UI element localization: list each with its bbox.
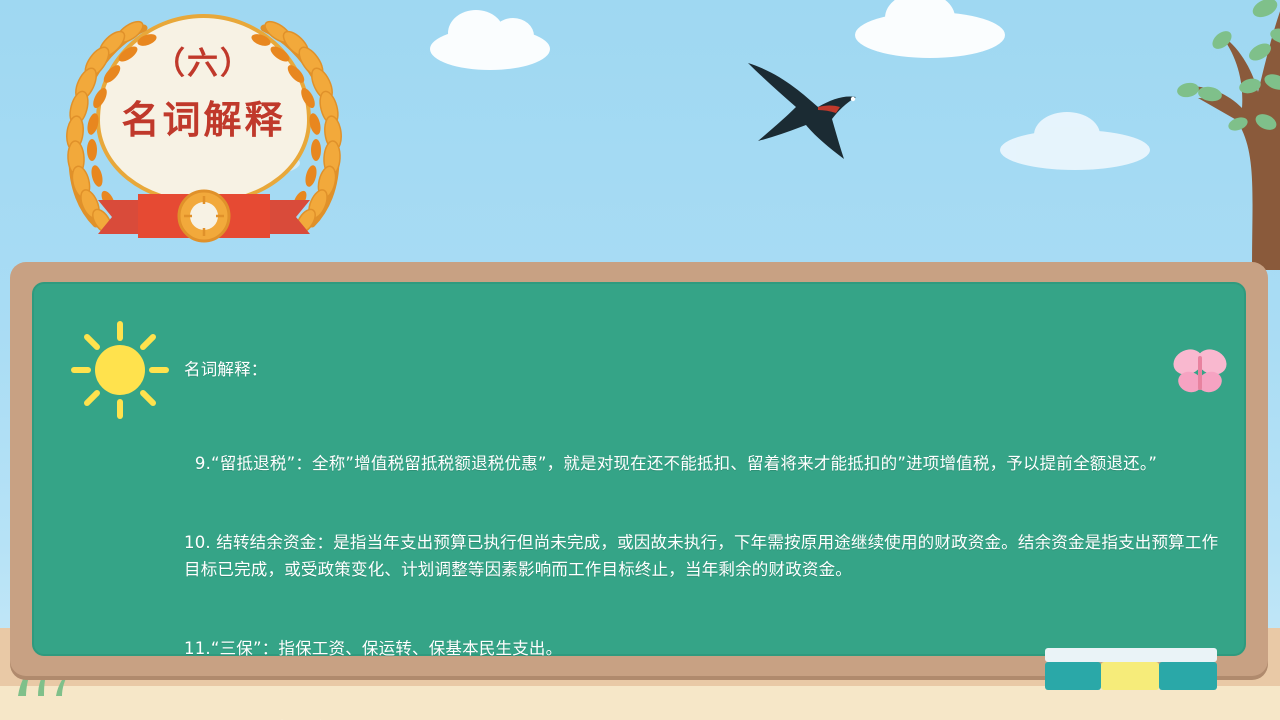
- tree-icon: [1060, 0, 1280, 270]
- slide-canvas: （六） 名词解释: [0, 0, 1280, 720]
- board-paragraph-9: 9.“留抵退税”：全称”增值税留抵税额退税优惠”，就是对现在还不能抵扣、留着将来…: [184, 451, 1226, 478]
- section-badge: （六） 名词解释: [38, 8, 368, 258]
- cloud-icon: [430, 28, 550, 70]
- section-number: （六）: [96, 38, 311, 83]
- swallow-icon: [740, 55, 880, 165]
- sun-icon: [70, 320, 170, 420]
- board-heading: 名词解释：: [184, 357, 1226, 384]
- page-title: 名词解释: [96, 89, 311, 144]
- books-icon: [1045, 648, 1217, 690]
- blackboard-frame: 名词解释： 9.“留抵退税”：全称”增值税留抵税额退税优惠”，就是对现在还不能抵…: [10, 262, 1268, 676]
- board-paragraph-10: 10. 结转结余资金：是指当年支出预算已执行但尚未完成，或因故未执行，下年需按原…: [184, 530, 1226, 583]
- blackboard: 名词解释： 9.“留抵退税”：全称”增值税留抵税额退税优惠”，就是对现在还不能抵…: [32, 282, 1246, 656]
- badge-text-block: （六） 名词解释: [96, 38, 311, 144]
- ribbon-banner-icon: [98, 186, 310, 256]
- cloud-icon: [855, 12, 1005, 58]
- board-paragraph-12: 12.“三资”：指资金、资产、资源。: [184, 716, 1226, 720]
